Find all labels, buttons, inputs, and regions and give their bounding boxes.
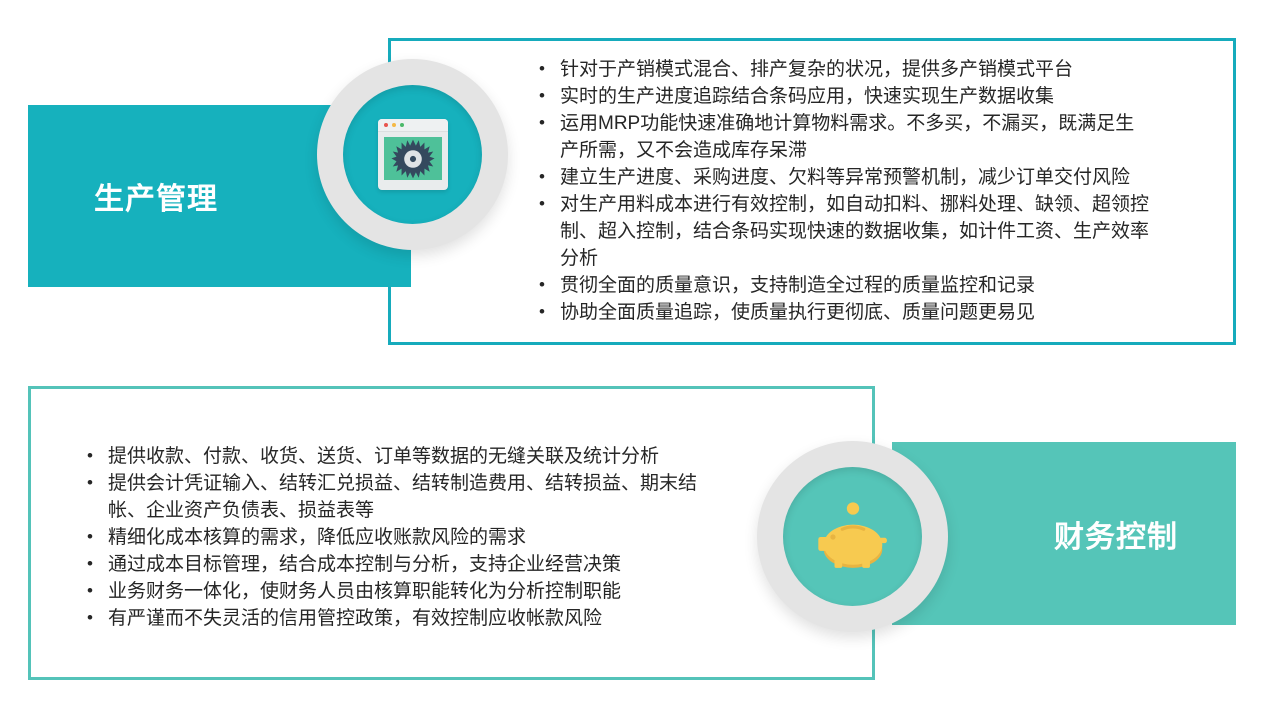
- list-item: 业务财务一体化，使财务人员由核算职能转化为分析控制职能: [85, 578, 725, 605]
- window-minimize-dot-icon: [392, 123, 396, 127]
- window-titlebar: [378, 119, 448, 132]
- coin-icon: [846, 502, 858, 514]
- list-item: 提供收款、付款、收货、送货、订单等数据的无缝关联及统计分析: [85, 443, 725, 470]
- list-item: 建立生产进度、采购进度、欠料等异常预警机制，减少订单交付风险: [537, 164, 1151, 191]
- list-item: 协助全面质量追踪，使质量执行更彻底、质量问题更易见: [537, 299, 1151, 326]
- window-screen: [384, 137, 442, 180]
- list-item: 提供会计凭证输入、结转汇兑损益、结转制造费用、结转损益、期末结帐、企业资产负债表…: [85, 470, 725, 524]
- slide-canvas: 生产管理: [0, 0, 1264, 710]
- list-item: 实时的生产进度追踪结合条码应用，快速实现生产数据收集: [537, 83, 1151, 110]
- window-maximize-dot-icon: [400, 123, 404, 127]
- finance-banner-label: 财务控制: [1054, 512, 1178, 556]
- list-item: 对生产用料成本进行有效控制，如自动扣料、挪料处理、缺领、超领控制、超入控制，结合…: [537, 191, 1151, 272]
- production-icon-badge-inner: [343, 85, 482, 224]
- gear-icon: [391, 137, 435, 181]
- list-item: 运用MRP功能快速准确地计算物料需求。不多买，不漏买，既满足生产所需，又不会造成…: [537, 110, 1151, 164]
- finance-bullet-list: 提供收款、付款、收货、送货、订单等数据的无缝关联及统计分析 提供会计凭证输入、结…: [85, 443, 725, 632]
- window-close-dot-icon: [384, 123, 388, 127]
- production-banner-label: 生产管理: [94, 174, 218, 218]
- finance-icon-badge-inner: [783, 467, 922, 606]
- list-item: 通过成本目标管理，结合成本控制与分析，支持企业经营决策: [85, 551, 725, 578]
- production-icon-badge[interactable]: [317, 59, 508, 250]
- piggy-bank-icon: [814, 500, 892, 574]
- list-item: 有严谨而不失灵活的信用管控政策，有效控制应收帐款风险: [85, 605, 725, 632]
- production-bullet-list: 针对于产销模式混合、排产复杂的状况，提供多产销模式平台 实时的生产进度追踪结合条…: [537, 56, 1151, 326]
- list-item: 精细化成本核算的需求，降低应收账款风险的需求: [85, 524, 725, 551]
- window-gear-icon: [378, 119, 448, 190]
- finance-icon-badge[interactable]: [757, 441, 948, 632]
- list-item: 针对于产销模式混合、排产复杂的状况，提供多产销模式平台: [537, 56, 1151, 83]
- list-item: 贯彻全面的质量意识，支持制造全过程的质量监控和记录: [537, 272, 1151, 299]
